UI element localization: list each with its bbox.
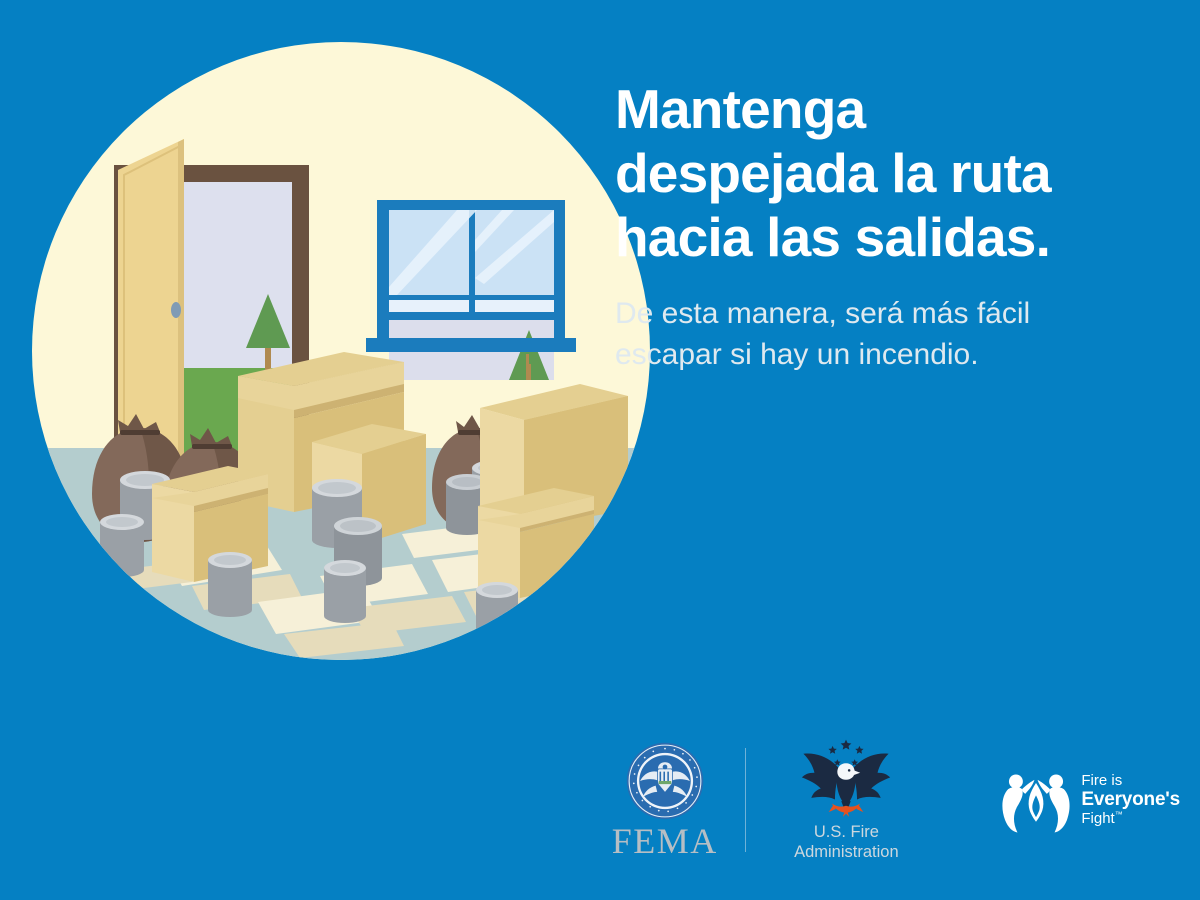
eagle-eye xyxy=(848,769,851,772)
usfa-eagle-icon xyxy=(798,738,894,820)
headline-line-3: hacia las salidas. xyxy=(615,206,1155,270)
logo-divider xyxy=(745,748,746,852)
subheadline: De esta manera, será más fácil escapar s… xyxy=(615,293,1155,375)
eagle-head xyxy=(838,763,855,780)
sack-tie xyxy=(120,430,160,435)
page-title: Mantenga despejada la ruta hacia las sal… xyxy=(615,78,1155,269)
fire-is-everyones-fight-wordmark: Fire is Everyone's Fight™ xyxy=(1081,773,1180,828)
copy-block: Mantenga despejada la ruta hacia las sal… xyxy=(615,78,1155,376)
poster-canvas: Mantenga despejada la ruta hacia las sal… xyxy=(0,0,1200,900)
logo-bar: FEMA xyxy=(600,735,1180,865)
usfa-name-line-1: U.S. Fire xyxy=(794,822,899,842)
can xyxy=(208,552,252,617)
window-rail-right xyxy=(475,300,554,312)
subheadline-line-1: De esta manera, será más fácil xyxy=(615,293,1155,334)
fief-line-3: Fight™ xyxy=(1081,811,1180,828)
window-sill xyxy=(366,338,576,352)
door-panel xyxy=(118,139,184,462)
can xyxy=(100,514,144,577)
window-rail-left xyxy=(389,300,469,312)
fema-logo[interactable]: FEMA xyxy=(600,742,729,859)
fire-is-everyones-fight-icon xyxy=(998,766,1074,834)
fema-wordmark: FEMA xyxy=(612,823,718,859)
headline-line-1: Mantenga xyxy=(615,78,1155,142)
illustration-svg xyxy=(32,42,650,660)
can xyxy=(32,534,68,595)
can xyxy=(476,582,518,643)
can xyxy=(324,560,366,623)
sack-tie xyxy=(192,444,232,449)
box-open-small-right xyxy=(478,488,594,598)
fief-fight-text: Fight xyxy=(1081,810,1114,827)
usfa-name: U.S. Fire Administration xyxy=(794,822,899,862)
stars-icon xyxy=(829,739,864,765)
fire-is-everyones-fight-logo[interactable]: Fire is Everyone's Fight™ xyxy=(998,766,1180,834)
door-panel-edge xyxy=(178,139,184,460)
usfa-logo[interactable]: U.S. Fire Administration xyxy=(772,738,920,862)
fief-line-1: Fire is xyxy=(1081,773,1180,790)
door-knob-icon[interactable] xyxy=(171,302,181,318)
subheadline-line-2: escapar si hay un incendio. xyxy=(615,334,1155,375)
window xyxy=(366,200,576,380)
can xyxy=(32,594,74,653)
headline-line-2: despejada la ruta xyxy=(615,142,1155,206)
fief-line-2: Everyone's xyxy=(1081,789,1180,810)
illustration-cluttered-room xyxy=(32,42,650,660)
dhs-seal-icon xyxy=(626,742,704,820)
trademark-symbol: ™ xyxy=(1115,810,1123,819)
usfa-name-line-2: Administration xyxy=(794,842,899,862)
